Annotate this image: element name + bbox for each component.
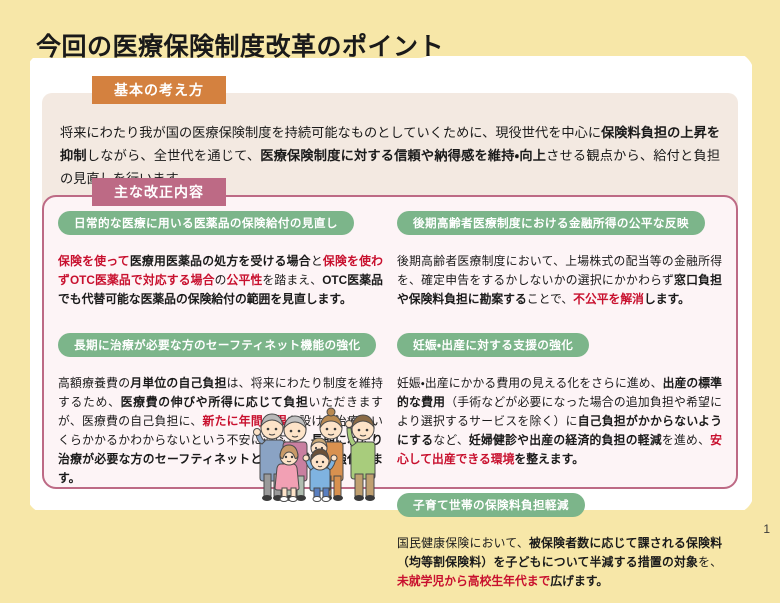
left-column: 日常的な医療に用いる医薬品の保険給付の見直し 保険を使って医療用医薬品の処方を受…: [58, 211, 383, 473]
left-cream-margin: [0, 0, 30, 540]
main-revisions-panel: 日常的な医療に用いる医薬品の保険給付の見直し 保険を使って医療用医薬品の処方を受…: [42, 195, 738, 489]
card-financial-income: 後期高齢者医療制度における金融所得の公平な反映 後期高齢者医療制度において、上場…: [397, 211, 722, 321]
right-column: 後期高齢者医療制度における金融所得の公平な反映 後期高齢者医療制度において、上場…: [397, 211, 722, 473]
card-otc-review-heading: 日常的な医療に用いる医薬品の保険給付の見直し: [58, 211, 354, 235]
card-safety-net-text: 高額療養費の月単位の自己負担は、将来にわたり制度を維持するため、医療費の伸びや所…: [58, 374, 383, 489]
card-pregnancy-support: 妊娠・出産に対する支援の強化 妊娠・出産にかかる費用の見える化をさらに進め、出産…: [397, 333, 722, 481]
card-childrearing-premium-heading: 子育て世帯の保険料負担軽減: [397, 493, 585, 517]
basic-philosophy-tab: 基本の考え方: [92, 76, 226, 104]
right-cream-margin: [752, 0, 780, 540]
card-pregnancy-support-heading: 妊娠・出産に対する支援の強化: [397, 333, 589, 357]
card-childrearing-premium: 子育て世帯の保険料負担軽減 国民健康保険において、被保険者数に応じて課される保険…: [397, 493, 722, 603]
page-title: 今回の医療保険制度改革のポイント: [36, 27, 444, 63]
card-pregnancy-support-text: 妊娠・出産にかかる費用の見える化をさらに進め、出産の標準的な費用（手術などが必要…: [397, 374, 722, 470]
card-financial-income-heading: 後期高齢者医療制度における金融所得の公平な反映: [397, 211, 705, 235]
main-revisions-tab: 主な改正内容: [92, 178, 226, 206]
card-safety-net: 長期に治療が必要な方のセーフティネット機能の強化 高額療養費の月単位の自己負担は…: [58, 333, 383, 500]
card-childrearing-premium-text: 国民健康保険において、被保険者数に応じて課される保険料（均等割保険料）を子どもに…: [397, 534, 722, 591]
card-safety-net-heading: 長期に治療が必要な方のセーフティネット機能の強化: [58, 333, 376, 357]
page-number: 1: [763, 522, 770, 536]
card-otc-review-text: 保険を使って医療用医薬品の処方を受ける場合と保険を使わずOTC医薬品で対応する場…: [58, 252, 383, 309]
main-revisions-section: 主な改正内容 日常的な医療に用いる医薬品の保険給付の見直し 保険を使って医療用医…: [42, 178, 738, 489]
card-financial-income-text: 後期高齢者医療制度において、上場株式の配当等の金融所得を、確定申告をするかしない…: [397, 252, 722, 309]
card-otc-review: 日常的な医療に用いる医薬品の保険給付の見直し 保険を使って医療用医薬品の処方を受…: [58, 211, 383, 321]
